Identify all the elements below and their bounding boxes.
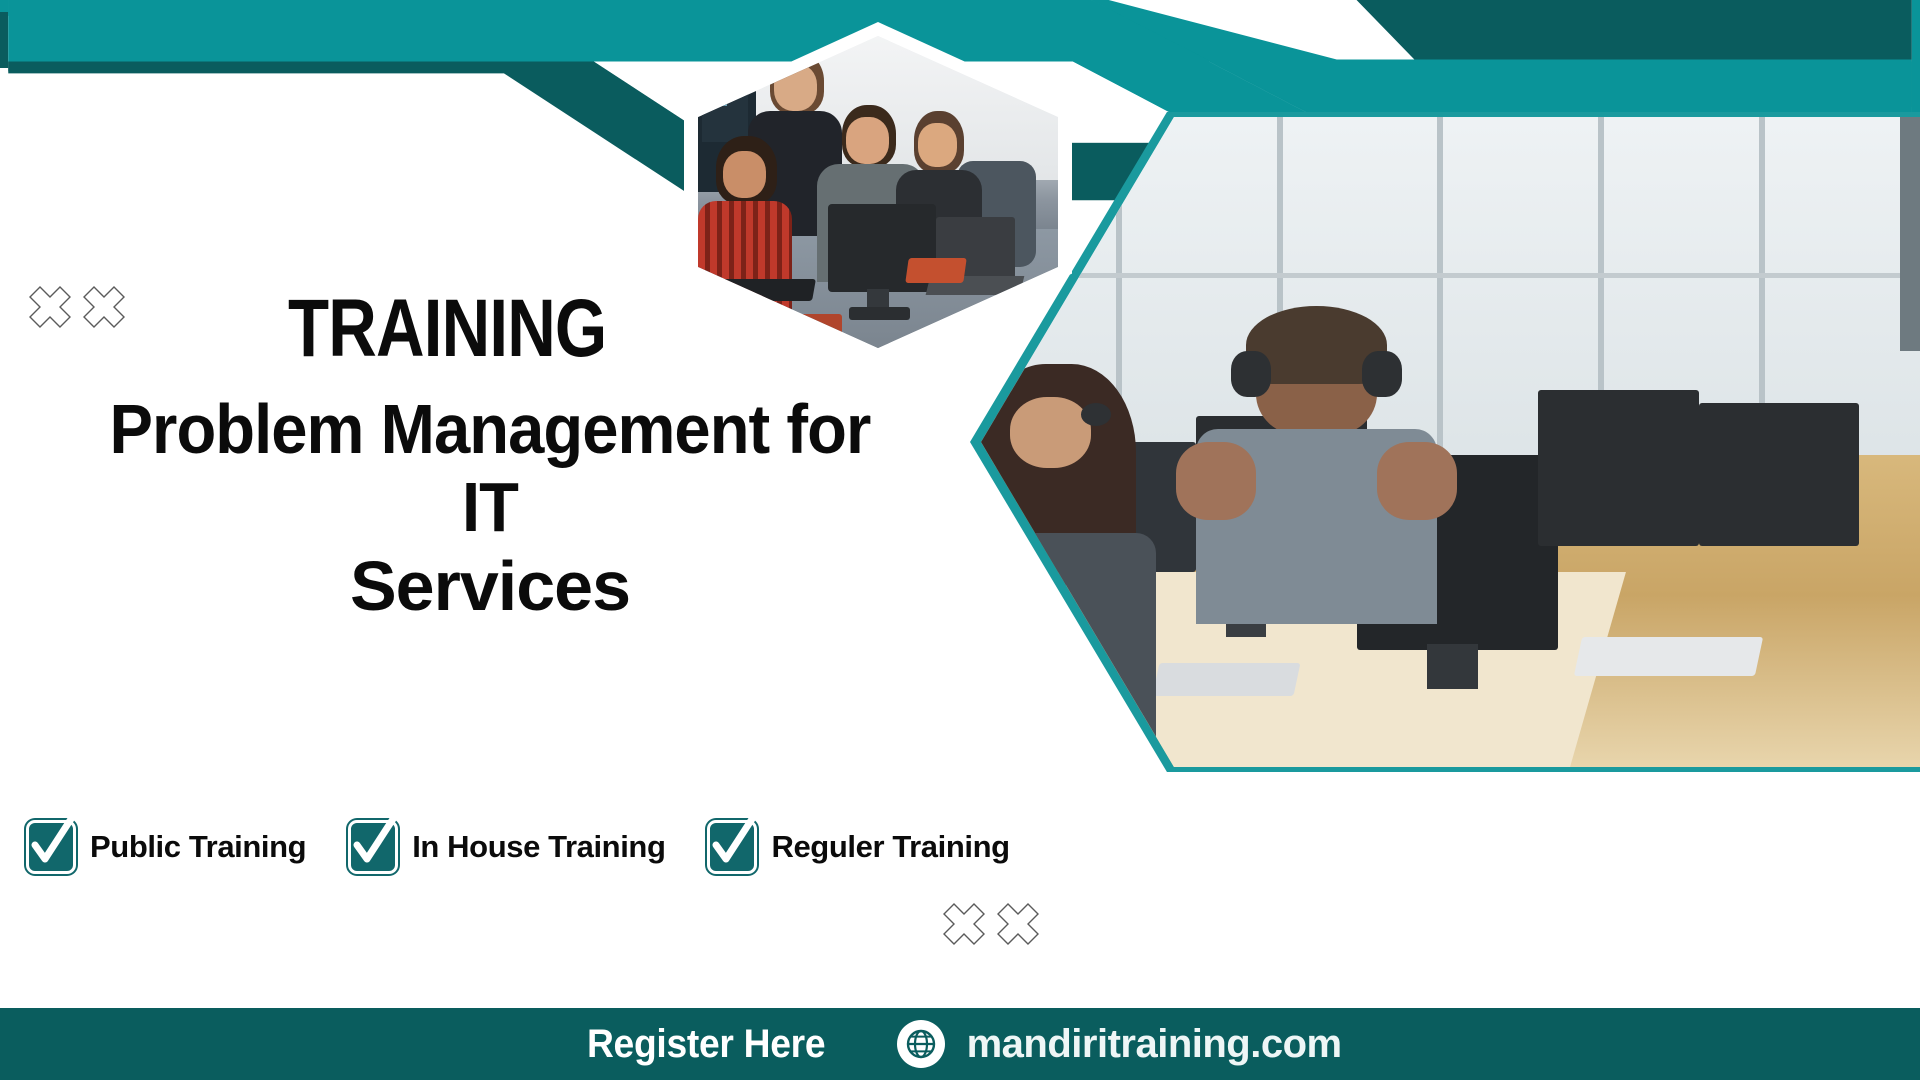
training-type-item[interactable]: Public Training	[26, 820, 306, 874]
x-cross-outline-icon	[938, 898, 1044, 950]
photo-content	[975, 117, 1920, 767]
training-type-item[interactable]: In House Training	[348, 820, 665, 874]
register-here-label[interactable]: Register Here	[587, 1022, 825, 1067]
page-title: Problem Management for IT Services	[50, 390, 930, 625]
call-center-photo	[970, 112, 1920, 772]
training-type-item[interactable]: Reguler Training	[707, 820, 1009, 874]
training-type-label: Public Training	[90, 829, 306, 865]
students-team-photo	[684, 22, 1072, 362]
training-type-label: Reguler Training	[771, 829, 1009, 865]
training-types-list: Public Training In House Training Regule…	[26, 820, 1052, 874]
page-kicker: TRAINING	[288, 288, 606, 370]
globe-icon	[897, 1020, 945, 1068]
page-title-line-2: Services	[50, 547, 930, 625]
training-type-label: In House Training	[412, 829, 665, 865]
training-poster: TRAINING Problem Management for IT Servi…	[0, 0, 1920, 1080]
footer-bar: Register Here mandiritraining.com	[0, 1008, 1920, 1080]
page-title-line-1: Problem Management for IT	[81, 390, 899, 547]
website-link[interactable]: mandiritraining.com	[897, 1020, 1342, 1068]
x-cross-outline-icon	[24, 281, 130, 333]
checkbox-checked-icon[interactable]	[348, 820, 398, 874]
checkbox-checked-icon[interactable]	[707, 820, 757, 874]
checkbox-checked-icon[interactable]	[26, 820, 76, 874]
website-url[interactable]: mandiritraining.com	[967, 1022, 1342, 1067]
